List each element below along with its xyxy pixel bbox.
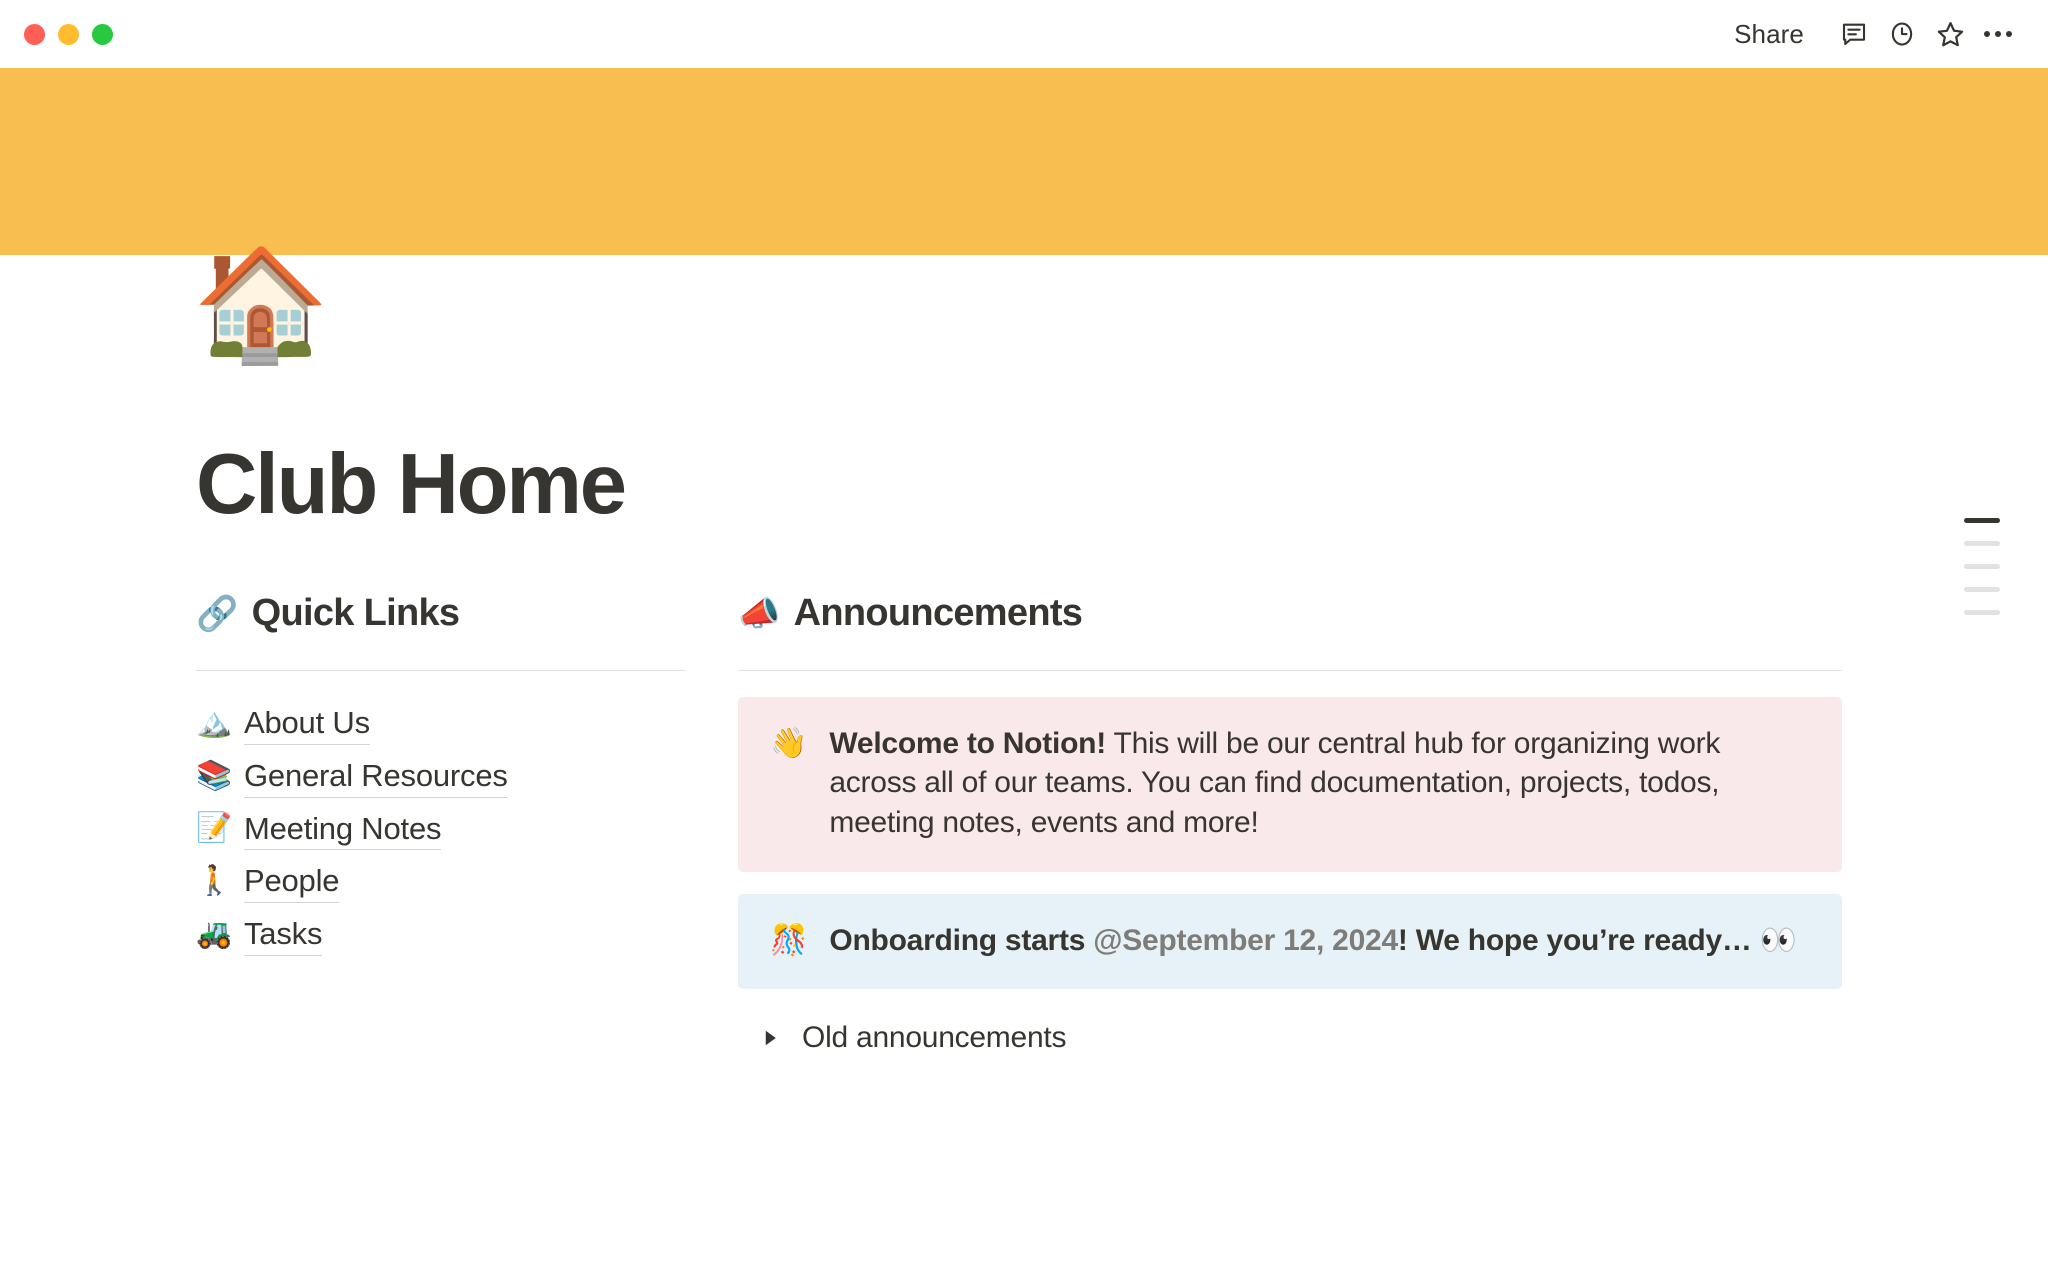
callout-onboarding-text: Onboarding starts @September 12, 2024! W…	[829, 921, 1797, 961]
page-link-about-us[interactable]: About Us	[244, 702, 370, 745]
history-icon[interactable]	[1878, 10, 1926, 58]
mountain-icon: 🏔️	[196, 709, 230, 738]
star-icon[interactable]	[1926, 10, 1974, 58]
page-title[interactable]: Club Home	[196, 440, 1876, 529]
announcements-heading-label: Announcements	[794, 591, 1083, 637]
more-options-icon[interactable]	[1974, 10, 2022, 58]
announcements-divider	[738, 670, 1842, 671]
more-options-dots	[1984, 31, 2012, 37]
toc-bar[interactable]	[1964, 541, 2000, 546]
page-link-people[interactable]: People	[244, 860, 339, 903]
two-column-layout: 🔗 Quick Links 🏔️ About Us 📚 General Reso…	[196, 591, 1876, 1065]
maximize-window-button[interactable]	[92, 24, 113, 45]
toggle-old-announcements-label: Old announcements	[794, 1021, 1066, 1055]
comment-icon[interactable]	[1830, 10, 1878, 58]
notion-window: Share	[0, 0, 2048, 1280]
tractor-icon: 🚜	[196, 920, 230, 949]
list-item[interactable]: 🚜 Tasks	[196, 908, 686, 961]
waving-hand-icon: 👋	[770, 724, 807, 764]
close-window-button[interactable]	[24, 24, 45, 45]
quick-links-heading-label: Quick Links	[252, 591, 460, 637]
toc-bar[interactable]	[1964, 564, 2000, 569]
megaphone-icon: 📣	[738, 597, 780, 631]
mini-table-of-contents[interactable]	[1964, 518, 2020, 615]
toc-bar[interactable]	[1964, 610, 2000, 615]
quick-links-divider	[196, 670, 686, 671]
toc-bar[interactable]	[1964, 518, 2000, 523]
books-icon: 📚	[196, 762, 230, 791]
window-titlebar: Share	[0, 0, 2048, 68]
memo-icon: 📝	[196, 814, 230, 843]
callout-onboarding[interactable]: 🎊 Onboarding starts @September 12, 2024!…	[738, 894, 1842, 990]
column-announcements: 📣 Announcements 👋 Welcome to Notion! Thi…	[738, 591, 1842, 1065]
confetti-ball-icon: 🎊	[770, 921, 807, 961]
page-icon[interactable]: 🏠	[196, 240, 326, 370]
callout-welcome[interactable]: 👋 Welcome to Notion! This will be our ce…	[738, 697, 1842, 872]
toggle-old-announcements[interactable]: Old announcements	[738, 1011, 1842, 1065]
list-item[interactable]: 🏔️ About Us	[196, 697, 686, 750]
share-button[interactable]: Share	[1720, 12, 1818, 57]
announcements-heading[interactable]: 📣 Announcements	[738, 591, 1842, 641]
traffic-light-group	[24, 24, 113, 45]
list-item[interactable]: 📚 General Resources	[196, 750, 686, 803]
date-mention[interactable]: @September 12, 2024	[1093, 924, 1398, 957]
list-item[interactable]: 📝 Meeting Notes	[196, 803, 686, 856]
page-link-meeting-notes[interactable]: Meeting Notes	[244, 808, 441, 851]
topbar-actions: Share	[1720, 0, 2022, 68]
page-link-general-resources[interactable]: General Resources	[244, 755, 508, 798]
column-quick-links: 🔗 Quick Links 🏔️ About Us 📚 General Reso…	[196, 591, 686, 961]
quick-links-heading[interactable]: 🔗 Quick Links	[196, 591, 686, 641]
callout-onboarding-body: ! We hope you’re ready… 👀	[1398, 924, 1797, 957]
callout-welcome-text: Welcome to Notion! This will be our cent…	[829, 724, 1810, 843]
list-item[interactable]: 🚶 People	[196, 855, 686, 908]
callout-onboarding-lead: Onboarding starts	[829, 924, 1093, 957]
page-cover-image[interactable]	[0, 68, 2048, 255]
callout-welcome-lead: Welcome to Notion!	[829, 727, 1106, 760]
chevron-right-icon[interactable]	[758, 1025, 784, 1051]
page-link-tasks[interactable]: Tasks	[244, 913, 322, 956]
toc-bar[interactable]	[1964, 587, 2000, 592]
link-icon: 🔗	[196, 597, 238, 631]
page-content: Club Home 🔗 Quick Links 🏔️ About Us 📚 Ge…	[196, 440, 1876, 1065]
minimize-window-button[interactable]	[58, 24, 79, 45]
walking-person-icon: 🚶	[196, 867, 230, 896]
